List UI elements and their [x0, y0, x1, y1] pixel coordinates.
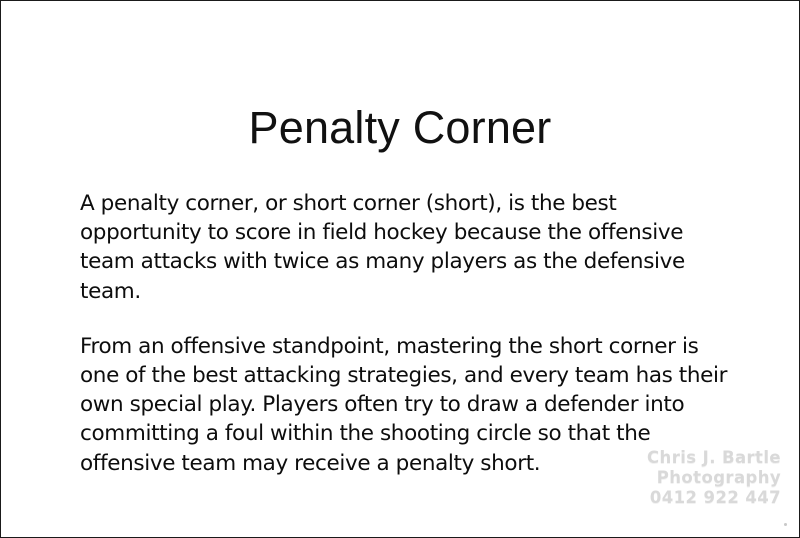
page-title: Penalty Corner: [1, 103, 799, 153]
watermark-phone: 0412 922 447: [647, 488, 781, 508]
body-paragraph-2: From an offensive standpoint, mastering …: [80, 332, 742, 478]
watermark-name: Chris J. Bartle: [647, 448, 781, 468]
watermark-business: Photography: [647, 468, 781, 488]
corner-speck: [784, 523, 787, 526]
slide-canvas: Penalty Corner A penalty corner, or shor…: [0, 0, 800, 538]
body-text-block: A penalty corner, or short corner (short…: [80, 189, 742, 478]
photographer-watermark: Chris J. Bartle Photography 0412 922 447: [647, 448, 781, 508]
body-paragraph-1: A penalty corner, or short corner (short…: [80, 189, 742, 306]
